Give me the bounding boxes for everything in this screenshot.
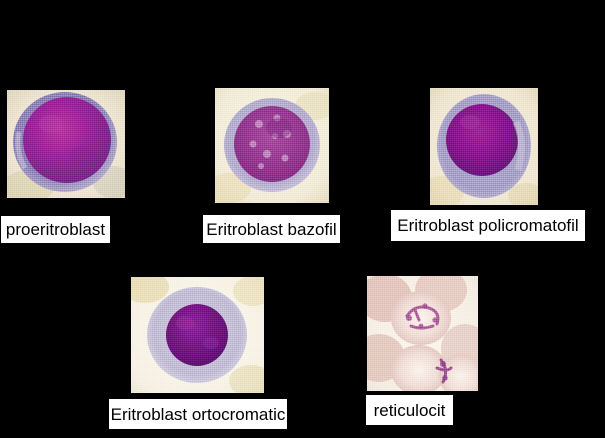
caption-text: Eritroblast policromatofil (397, 217, 578, 234)
caption-proeritroblast: proeritroblast (0, 215, 111, 244)
eritroblast-ortocromatic-micrograph (131, 277, 264, 393)
caption-text: proeritroblast (6, 221, 105, 238)
caption-text: Eritroblast bazofil (206, 221, 336, 238)
eritroblast-ortocromatic-cell-drawing (131, 277, 264, 393)
figure-board: proeritroblast (0, 0, 605, 438)
caption-reticulocit: reticulocit (365, 394, 454, 426)
caption-eritroblast-ortocromatic: Eritroblast ortocromatic (108, 398, 288, 430)
proeritroblast-micrograph (7, 90, 125, 198)
reticulocit-micrograph (367, 276, 478, 391)
eritroblast-bazofil-cell-drawing (215, 88, 329, 203)
reticulocit-cell-drawing (367, 276, 478, 391)
caption-eritroblast-policromatofil: Eritroblast policromatofil (390, 209, 586, 242)
caption-eritroblast-bazofil: Eritroblast bazofil (202, 214, 341, 244)
eritroblast-policromatofil-cell-drawing (430, 88, 538, 205)
caption-text: Eritroblast ortocromatic (111, 406, 286, 423)
eritroblast-bazofil-micrograph (215, 88, 329, 203)
eritroblast-policromatofil-micrograph (430, 88, 538, 205)
caption-text: reticulocit (374, 402, 446, 419)
proeritroblast-cell-drawing (7, 90, 125, 198)
